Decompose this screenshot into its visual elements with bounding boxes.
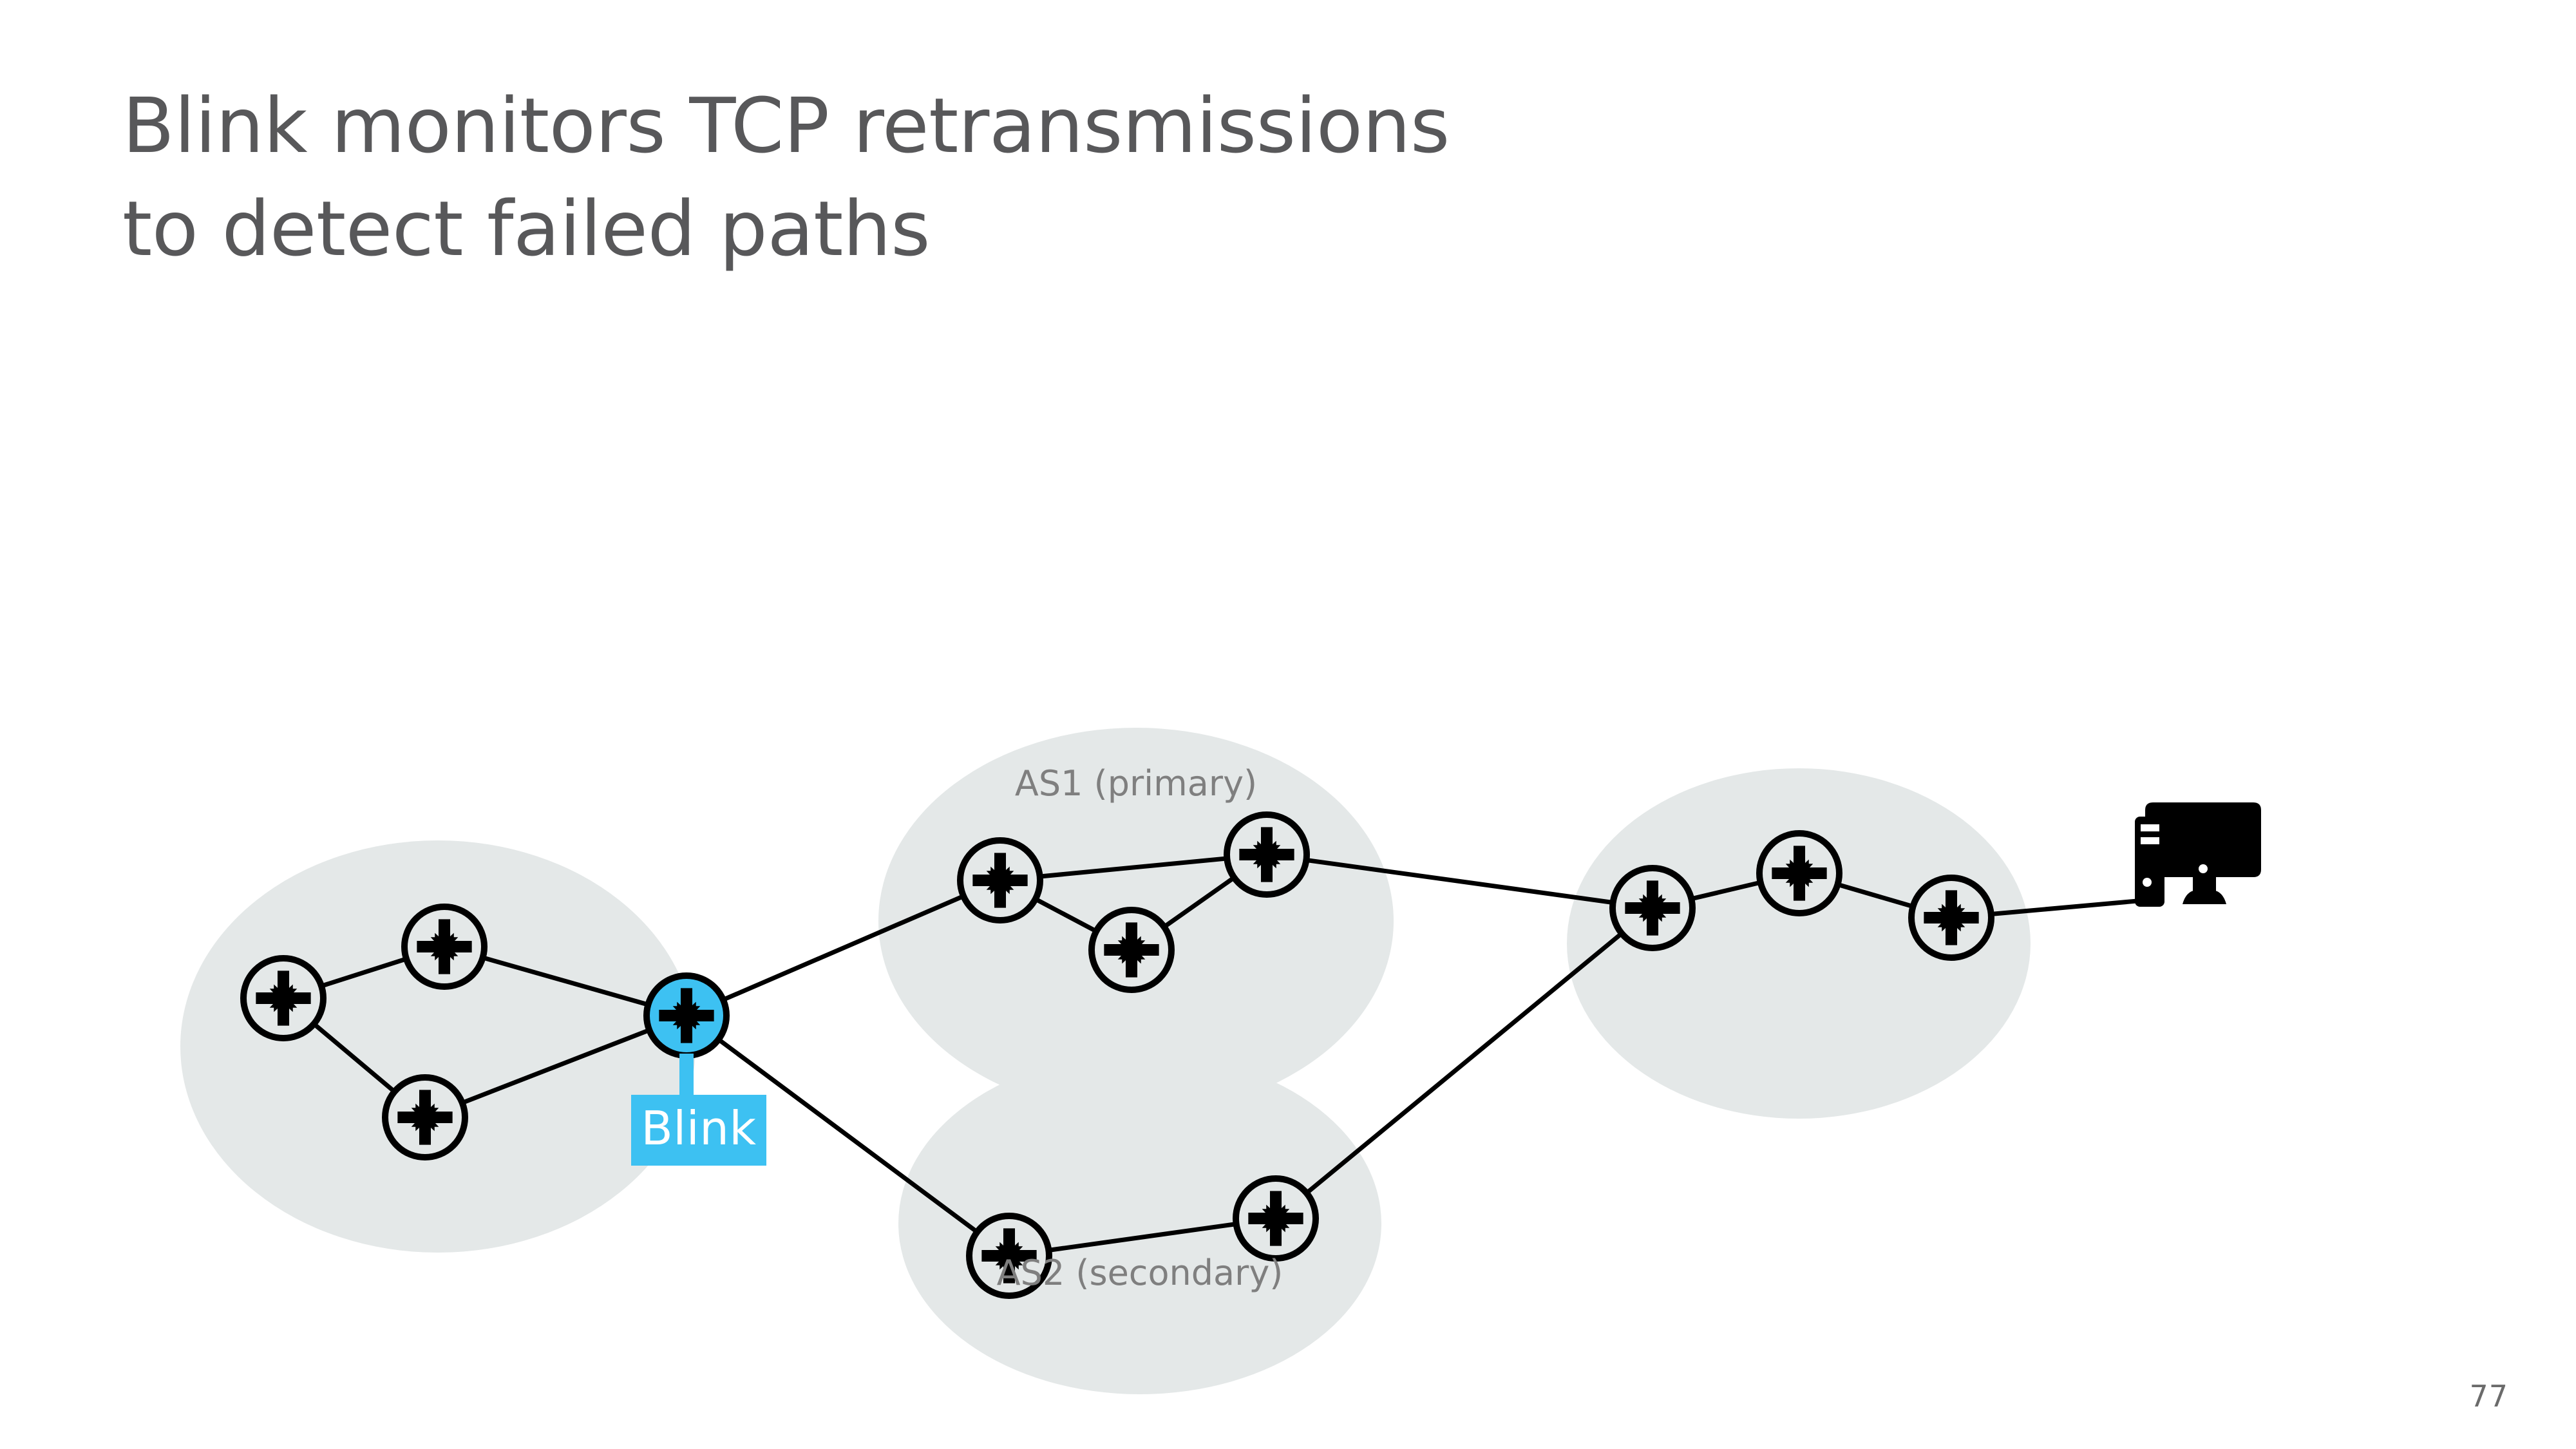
router-node[interactable] [1911, 878, 1991, 958]
page-number: 77 [2469, 1379, 2508, 1414]
client-host-layer [2135, 802, 2261, 907]
router-node[interactable] [404, 907, 484, 987]
router-node[interactable] [1227, 815, 1307, 895]
router-node[interactable] [243, 958, 323, 1038]
as-cloud-label-as1: AS1 (primary) [1015, 763, 1257, 804]
router-node-blink[interactable] [647, 976, 726, 1056]
router-node[interactable] [1759, 833, 1839, 913]
as-clouds-layer [180, 728, 2031, 1394]
router-node[interactable] [1092, 910, 1171, 990]
client-computer-icon[interactable] [2135, 802, 2261, 907]
router-node[interactable] [1613, 868, 1692, 948]
as-cloud-label-as2: AS2 (secondary) [997, 1253, 1283, 1293]
router-node[interactable] [960, 840, 1040, 920]
blink-callout-stem [679, 1054, 694, 1095]
slide-canvas: Blink monitors TCP retransmissions to de… [0, 0, 2576, 1449]
router-node[interactable] [1236, 1179, 1316, 1258]
as-cloud-as-left [180, 840, 696, 1253]
blink-callout-label: Blink [631, 1095, 766, 1166]
network-topology-diagram: AS1 (primary)AS2 (secondary) [0, 0, 2576, 1449]
router-node[interactable] [385, 1077, 465, 1157]
